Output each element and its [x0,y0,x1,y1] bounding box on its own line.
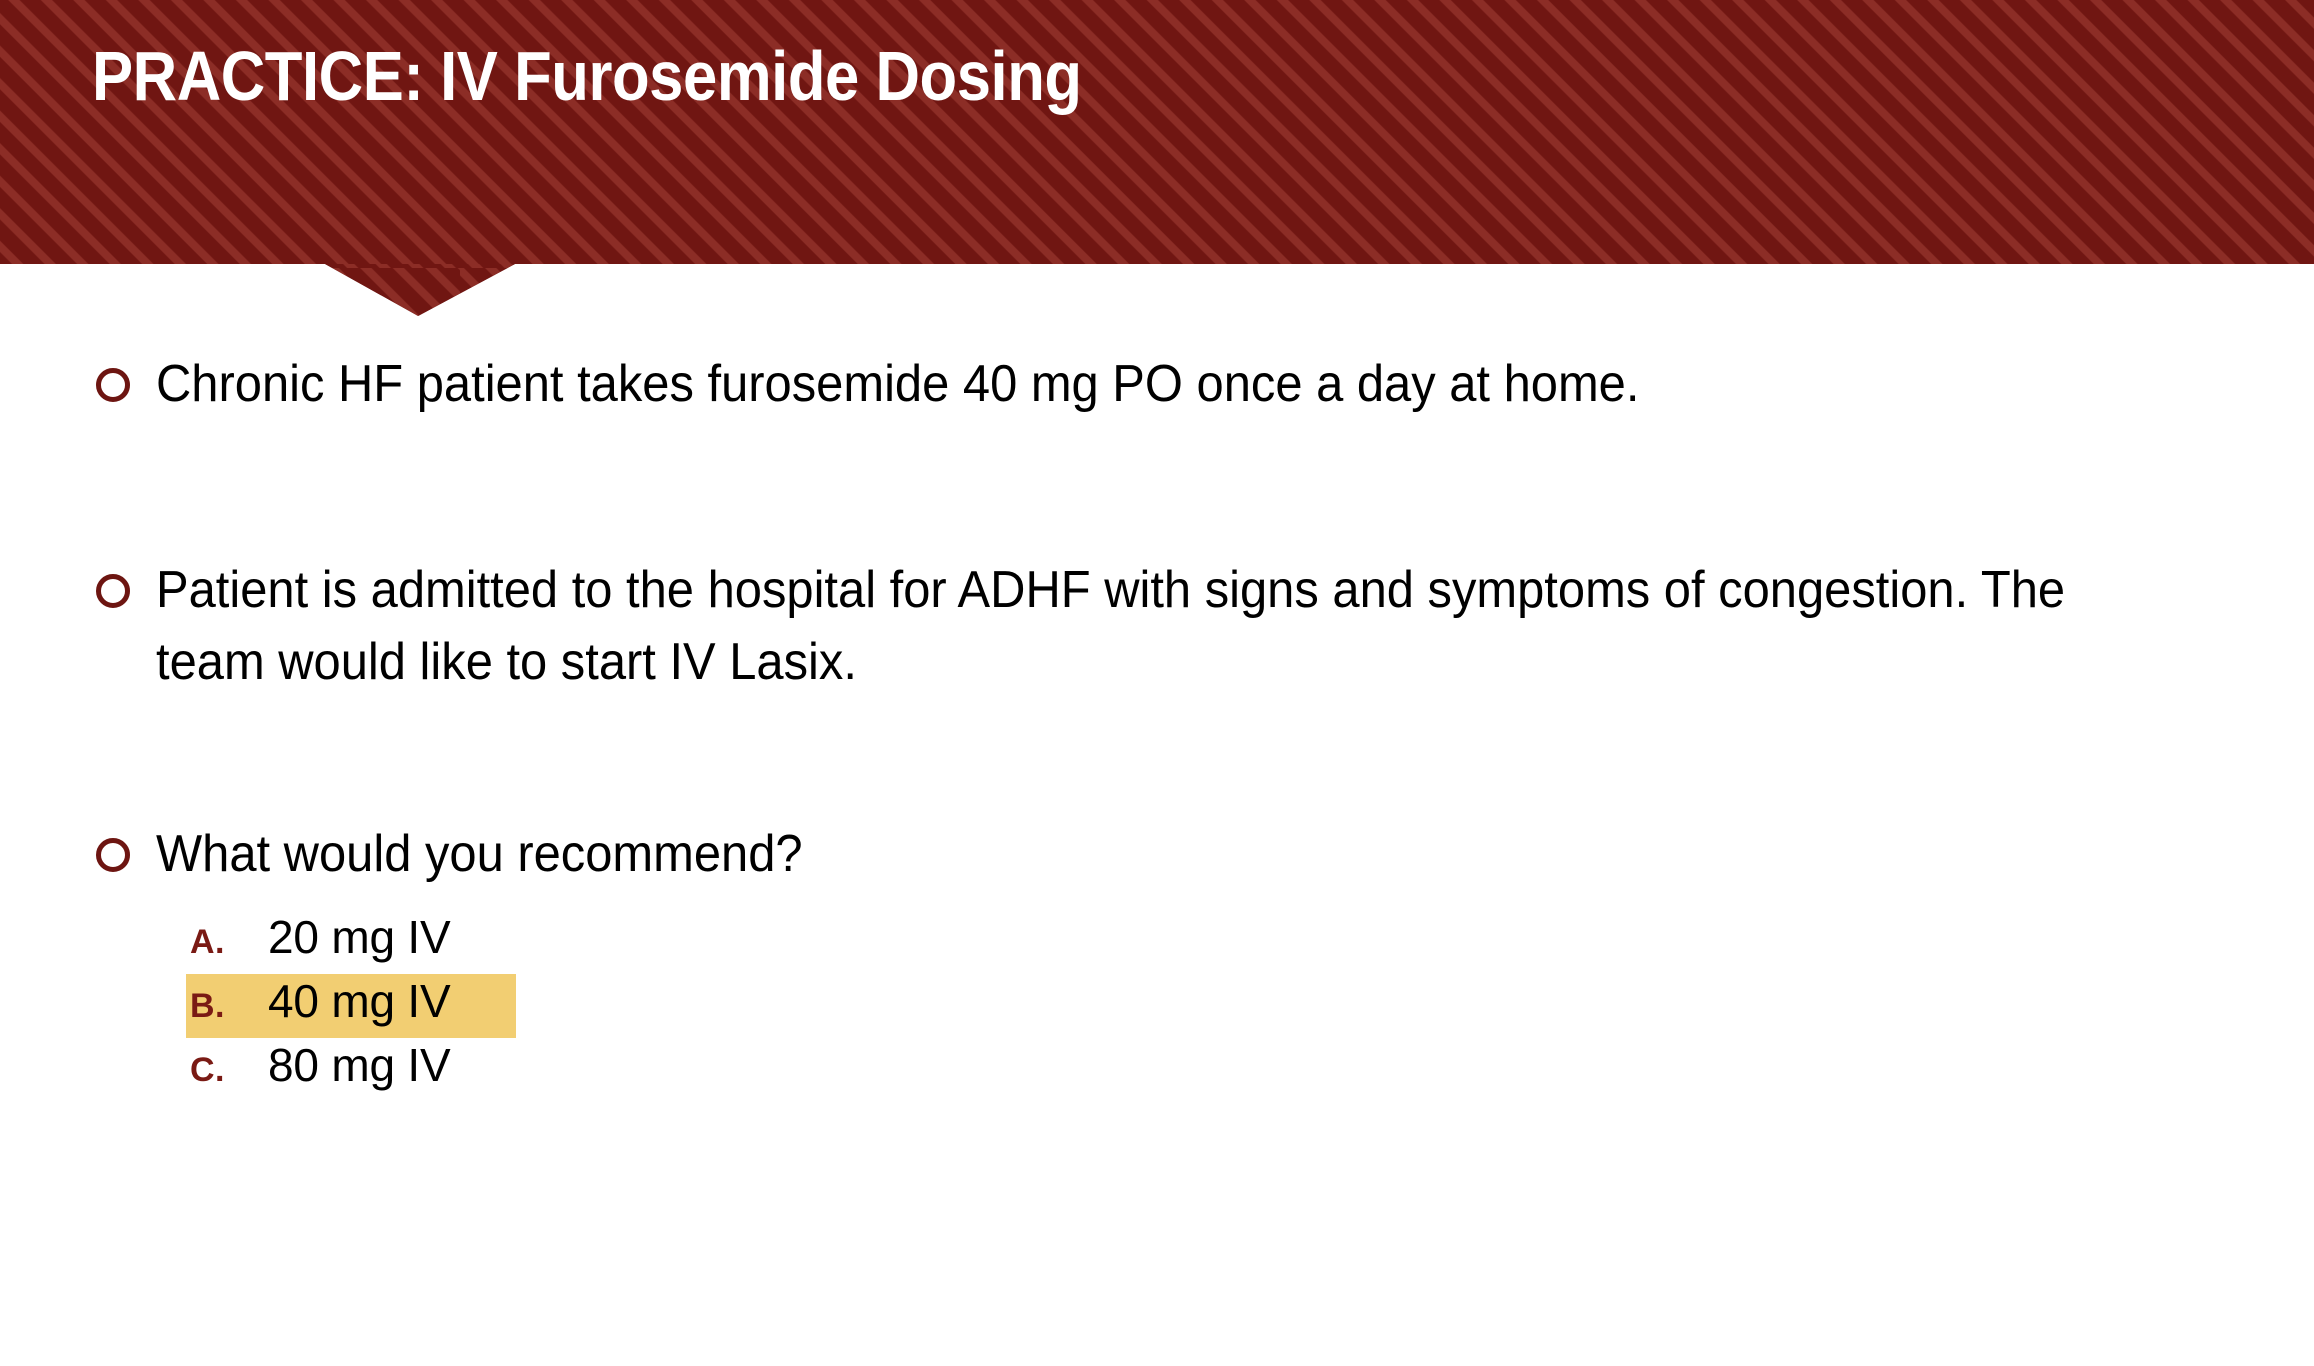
option-letter-b: B. [190,987,268,1026]
answer-option-a[interactable]: A. 20 mg IV [186,910,516,974]
option-letter-a: A. [190,923,268,962]
bullet-text: What would you recommend? [156,818,2092,890]
bullet-item: Chronic HF patient takes furosemide 40 m… [96,348,2216,420]
bullet-item: What would you recommend? [96,818,2216,890]
option-label-a: 20 mg IV [268,910,516,964]
option-label-b: 40 mg IV [268,974,516,1028]
slide: PRACTICE: IV Furosemide Dosing Chronic H… [0,0,2314,1366]
answer-option-b[interactable]: B. 40 mg IV [186,974,516,1038]
option-letter-c: C. [190,1051,268,1090]
page-title: PRACTICE: IV Furosemide Dosing [92,34,1082,118]
title-banner: PRACTICE: IV Furosemide Dosing [0,0,2314,264]
bullet-text: Chronic HF patient takes furosemide 40 m… [156,348,2092,420]
bullet-item: Patient is admitted to the hospital for … [96,554,2216,698]
open-circle-bullet-icon [96,368,130,402]
slide-body: Chronic HF patient takes furosemide 40 m… [0,264,2314,1366]
bullet-text: Patient is admitted to the hospital for … [156,554,2092,698]
answer-option-c[interactable]: C. 80 mg IV [186,1038,516,1102]
option-label-c: 80 mg IV [268,1038,516,1092]
open-circle-bullet-icon [96,574,130,608]
open-circle-bullet-icon [96,838,130,872]
answer-options-list: A. 20 mg IV B. 40 mg IV C. 80 mg IV [186,910,1086,1102]
